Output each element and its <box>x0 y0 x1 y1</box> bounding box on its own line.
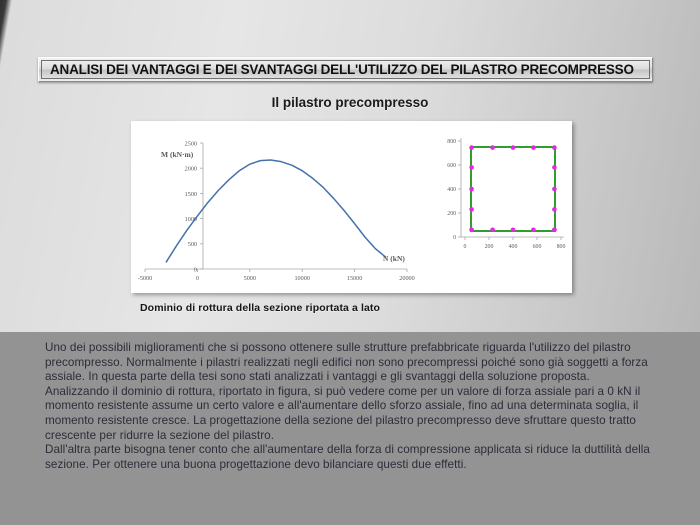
figure-caption: Dominio di rottura della sezione riporta… <box>140 302 380 314</box>
page-title: ANALISI DEI VANTAGGI E DEI SVANTAGGI DEL… <box>42 62 634 77</box>
section-outline-rect <box>471 147 555 231</box>
cross-section-chart: 0200400600800 0200400600800 <box>447 138 565 250</box>
section-rebar-points <box>469 145 556 232</box>
svg-text:10000: 10000 <box>294 275 309 282</box>
domain-y-axis-label: M (kN·m) <box>161 150 194 159</box>
svg-text:5000: 5000 <box>244 275 256 282</box>
interaction-domain-chart: 05001000150020002500 -500005000100001500… <box>138 140 415 282</box>
slide-title-banner: ANALISI DEI VANTAGGI E DEI SVANTAGGI DEL… <box>38 57 653 82</box>
figure-panel: 05001000150020002500 -500005000100001500… <box>131 121 572 293</box>
svg-text:0: 0 <box>453 235 456 241</box>
domain-y-ticks: 05001000150020002500 <box>185 140 203 273</box>
slide-subtitle: Il pilastro precompresso <box>0 95 700 110</box>
domain-curve <box>166 160 386 262</box>
svg-text:500: 500 <box>188 241 197 248</box>
domain-x-ticks: -500005000100001500020000 <box>138 269 415 282</box>
svg-text:20000: 20000 <box>399 275 414 282</box>
body-paragraph-2: Analizzando il dominio di rottura, ripor… <box>0 385 700 443</box>
section-x-ticks: 0200400600800 <box>464 237 566 250</box>
svg-text:2000: 2000 <box>185 166 197 173</box>
slide-canvas: ANALISI DEI VANTAGGI E DEI SVANTAGGI DEL… <box>0 0 700 525</box>
svg-text:-5000: -5000 <box>138 275 152 282</box>
svg-text:0: 0 <box>464 244 467 250</box>
section-y-ticks: 0200400600800 <box>447 139 461 241</box>
svg-text:200: 200 <box>485 244 494 250</box>
svg-text:600: 600 <box>447 163 456 169</box>
body-paragraph-3: Dall'altra parte bisogna tener conto che… <box>0 443 700 472</box>
svg-text:15000: 15000 <box>347 275 362 282</box>
svg-text:200: 200 <box>447 211 456 217</box>
svg-text:800: 800 <box>557 244 566 250</box>
svg-text:800: 800 <box>447 139 456 145</box>
svg-text:1500: 1500 <box>185 191 197 198</box>
domain-x-axis-label: N (kN) <box>383 254 405 263</box>
slide-title-inner-bevel: ANALISI DEI VANTAGGI E DEI SVANTAGGI DEL… <box>41 60 650 79</box>
figures-svg: 05001000150020002500 -500005000100001500… <box>131 121 572 293</box>
svg-text:600: 600 <box>533 244 542 250</box>
svg-text:0: 0 <box>194 266 197 273</box>
body-text-block: Uno dei possibili miglioramenti che si p… <box>0 332 700 525</box>
svg-text:2500: 2500 <box>185 140 197 147</box>
svg-text:400: 400 <box>447 187 456 193</box>
svg-text:0: 0 <box>196 275 199 282</box>
body-paragraph-1: Uno dei possibili miglioramenti che si p… <box>0 332 700 385</box>
svg-text:400: 400 <box>509 244 518 250</box>
